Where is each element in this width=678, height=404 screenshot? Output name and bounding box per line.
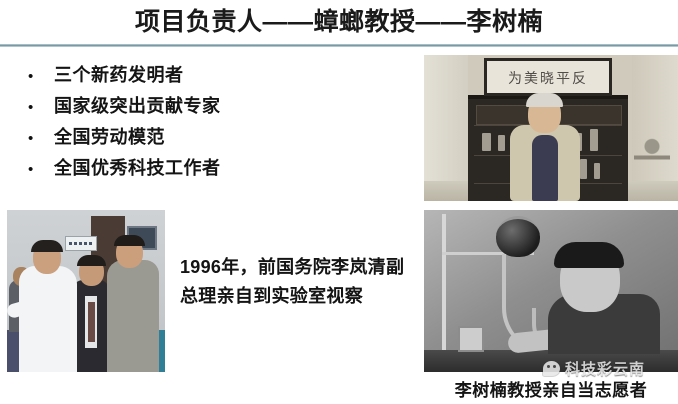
photo-wall-left [424,55,468,201]
list-item: • 全国劳动模范 [28,122,408,153]
list-item-label: 全国优秀科技工作者 [54,153,221,184]
photo-iv-flask [496,216,540,257]
photo-grey-jacket-hair [114,235,145,246]
list-item: • 三个新药发明者 [28,60,408,91]
photo-grey-jacket-person [107,260,159,372]
photo-volunteer-hair [554,242,624,268]
photo-caption: 李树楠教授亲自当志愿者 [424,376,678,401]
photo-calligraphy-frame: 为美晓平反 [484,58,612,96]
bullet-marker-icon: • [28,61,54,92]
list-item-label: 全国劳动模范 [54,122,165,153]
photo-suit-tie [88,302,95,342]
photo-lab-coat-person [19,266,77,372]
slide-canvas: 项目负责人——蟑螂教授——李树楠 • 三个新药发明者 • 国家级突出贡献专家 •… [0,0,678,404]
bullet-marker-icon: • [28,154,54,185]
list-item: • 国家级突出贡献专家 [28,91,408,122]
photo-person-hair [526,93,563,107]
photo-wall-sign [65,236,97,251]
bullet-list: • 三个新药发明者 • 国家级突出贡献专家 • 全国劳动模范 • 全国优秀科技工… [28,60,408,184]
photo-person-shirt [532,135,558,201]
photo-iv-stand [442,214,446,352]
list-item-label: 三个新药发明者 [54,60,184,91]
bullet-marker-icon: • [28,123,54,154]
photo-apparatus [634,131,670,175]
list-item-label: 国家级突出贡献专家 [54,91,221,122]
photo-wall-right [632,55,678,201]
photo-lab-portrait: 为美晓平反 [424,55,678,201]
middle-paragraph: 1996年，前国务院李岚清副总理亲自到实验室视察 [180,253,412,311]
photo-suit-hair [77,255,106,266]
page-title: 项目负责人——蟑螂教授——李树楠 [0,2,678,38]
photo-calligraphy-text: 为美晓平反 [508,68,588,88]
photo-lab-coat-hair [31,240,63,252]
wechat-icon [543,361,560,376]
title-divider [0,44,678,47]
list-item: • 全国优秀科技工作者 [28,153,408,184]
photo-beaker [458,326,484,352]
photo-volunteer-test [424,210,678,372]
bullet-marker-icon: • [28,92,54,123]
photo-official-visit [7,210,165,372]
